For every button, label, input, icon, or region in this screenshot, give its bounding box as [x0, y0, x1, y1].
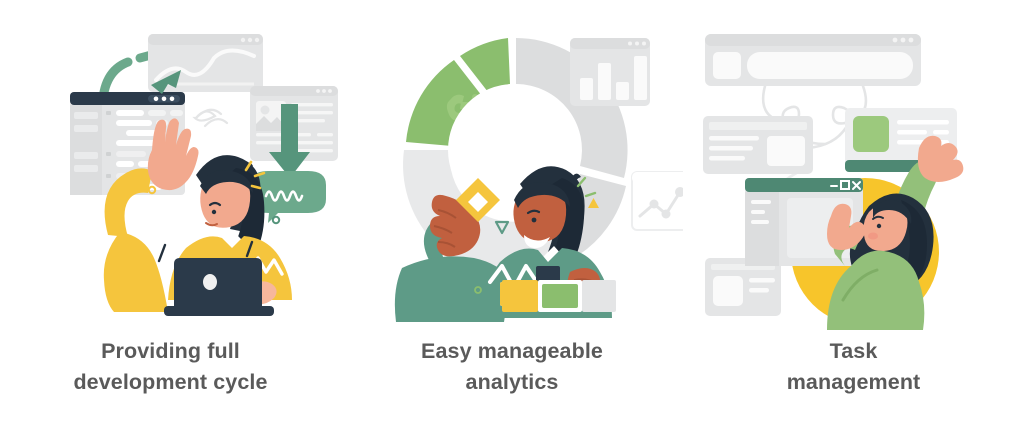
task-management-scene	[683, 0, 1024, 330]
analytics-artwork	[342, 0, 683, 330]
task-card-bottom	[705, 258, 781, 316]
search-icon-box	[713, 52, 741, 79]
panel-caption: Task management	[683, 336, 1024, 398]
task-card-left	[703, 116, 813, 174]
panel-providing-full-development-cycle: Providing full development cycle	[0, 0, 341, 447]
bar-chart-window	[570, 38, 650, 106]
raised-hand	[148, 118, 199, 190]
search-input[interactable]	[747, 52, 913, 79]
line-chart-window	[631, 170, 683, 230]
card-thumbnail	[853, 116, 889, 152]
task-management-artwork	[683, 0, 1024, 330]
bubble-dot	[273, 217, 279, 223]
illustration-board: Providing full development cycle	[0, 0, 1024, 447]
laptop	[164, 258, 274, 316]
analytics-scene	[342, 0, 683, 330]
panel-task-management: Task management	[683, 0, 1024, 447]
top-search-window	[705, 34, 921, 86]
panel-easy-manageable-analytics: Easy manageable analytics	[342, 0, 683, 447]
development-cycle-artwork	[0, 0, 341, 330]
panel-caption: Providing full development cycle	[0, 336, 341, 398]
development-cycle-scene	[0, 0, 341, 330]
panel-caption: Easy manageable analytics	[342, 336, 683, 398]
